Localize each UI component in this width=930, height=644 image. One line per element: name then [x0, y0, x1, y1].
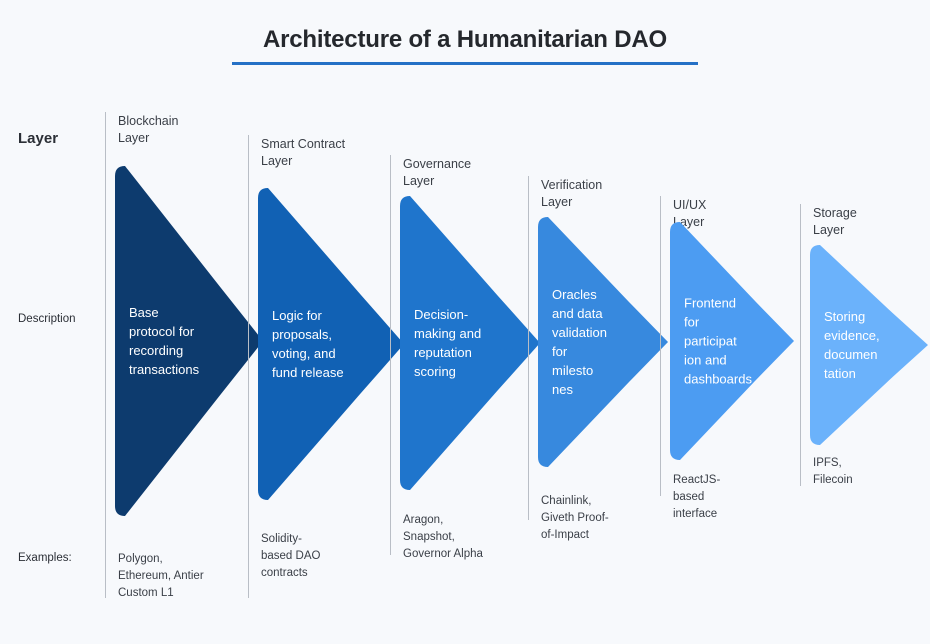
layer-description-text: Decision- making and reputation scoring — [414, 305, 506, 381]
layer-description-text: Base protocol for recording transactions — [129, 303, 229, 379]
layer-examples-text: IPFS, Filecoin — [813, 455, 930, 489]
diagram-canvas: Architecture of a Humanitarian DAO Layer… — [0, 0, 930, 644]
layer-examples-text: ReactJS- based interface — [673, 472, 817, 523]
column-divider — [660, 196, 661, 496]
layer-description-text: Frontend for participat ion and dashboar… — [684, 294, 760, 389]
layer-chevron[interactable]: Logic for proposals, voting, and fund re… — [258, 188, 404, 500]
row-label-description: Description — [18, 313, 114, 325]
layer-chevron[interactable]: Oracles and data validation for milesto … — [538, 217, 668, 467]
row-label-layer: Layer — [18, 130, 114, 147]
layer-column: Storage LayerStoring evidence, documen t… — [800, 0, 918, 644]
column-divider — [528, 176, 529, 520]
layer-column: Verification LayerOracles and data valid… — [528, 0, 658, 644]
layer-chevron[interactable]: Decision- making and reputation scoring — [400, 196, 540, 490]
column-divider — [248, 135, 249, 598]
row-label-examples: Examples: — [18, 552, 114, 564]
layer-column: Smart Contract LayerLogic for proposals,… — [248, 0, 394, 644]
column-divider — [800, 204, 801, 486]
layer-description-text: Oracles and data validation for milesto … — [552, 285, 634, 399]
layer-description-text: Logic for proposals, voting, and fund re… — [272, 306, 370, 382]
layer-name-label: Storage Layer — [813, 205, 930, 239]
layer-column: UI/UX LayerFrontend for participat ion a… — [660, 0, 784, 644]
column-divider — [390, 155, 391, 555]
layer-chevron[interactable]: Base protocol for recording transactions — [115, 166, 263, 516]
layer-column: Governance LayerDecision- making and rep… — [390, 0, 530, 644]
layer-description-text: Storing evidence, documen tation — [824, 307, 894, 383]
column-divider — [105, 112, 106, 598]
layer-chevron[interactable]: Frontend for participat ion and dashboar… — [670, 222, 794, 460]
layer-chevron[interactable]: Storing evidence, documen tation — [810, 245, 928, 445]
layer-column: Blockchain LayerBase protocol for record… — [105, 0, 253, 644]
